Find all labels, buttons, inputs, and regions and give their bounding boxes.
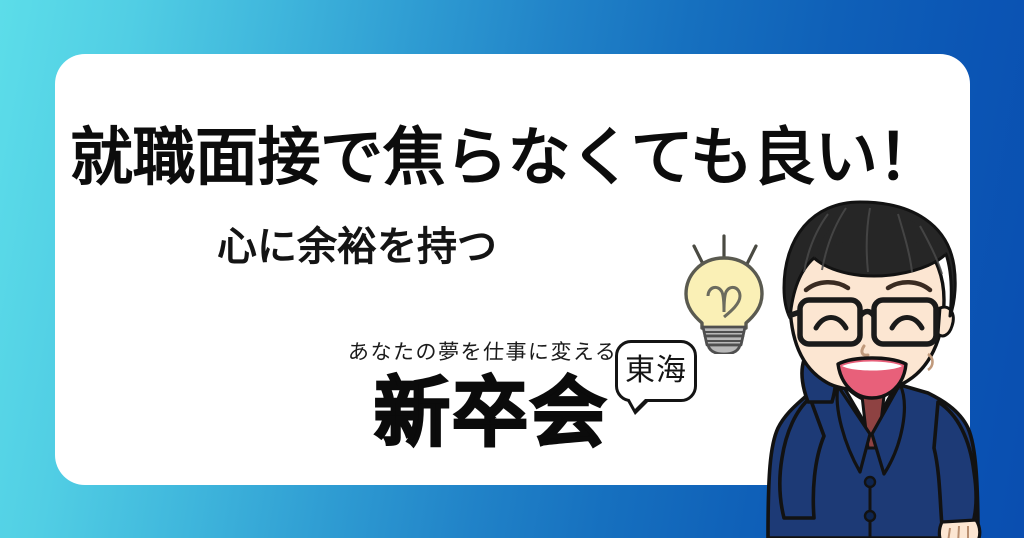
page-title: 就職面接で焦らなくても良い！ — [70, 120, 930, 196]
brand-logo: あなたの夢を仕事に変える 新卒会 東海 — [345, 336, 705, 460]
character-illustration — [742, 196, 1024, 538]
brand-wordmark: 新卒会 — [374, 370, 608, 456]
illustration-group — [672, 196, 1024, 538]
slide-canvas: 就職面接で焦らなくても良い！ 心に余裕を持つ あなたの夢を仕事に変える 新卒会 … — [0, 0, 1024, 538]
character-head — [784, 202, 955, 398]
right-arm-hand — [934, 402, 980, 538]
brand-tagline: あなたの夢を仕事に変える — [347, 336, 617, 366]
